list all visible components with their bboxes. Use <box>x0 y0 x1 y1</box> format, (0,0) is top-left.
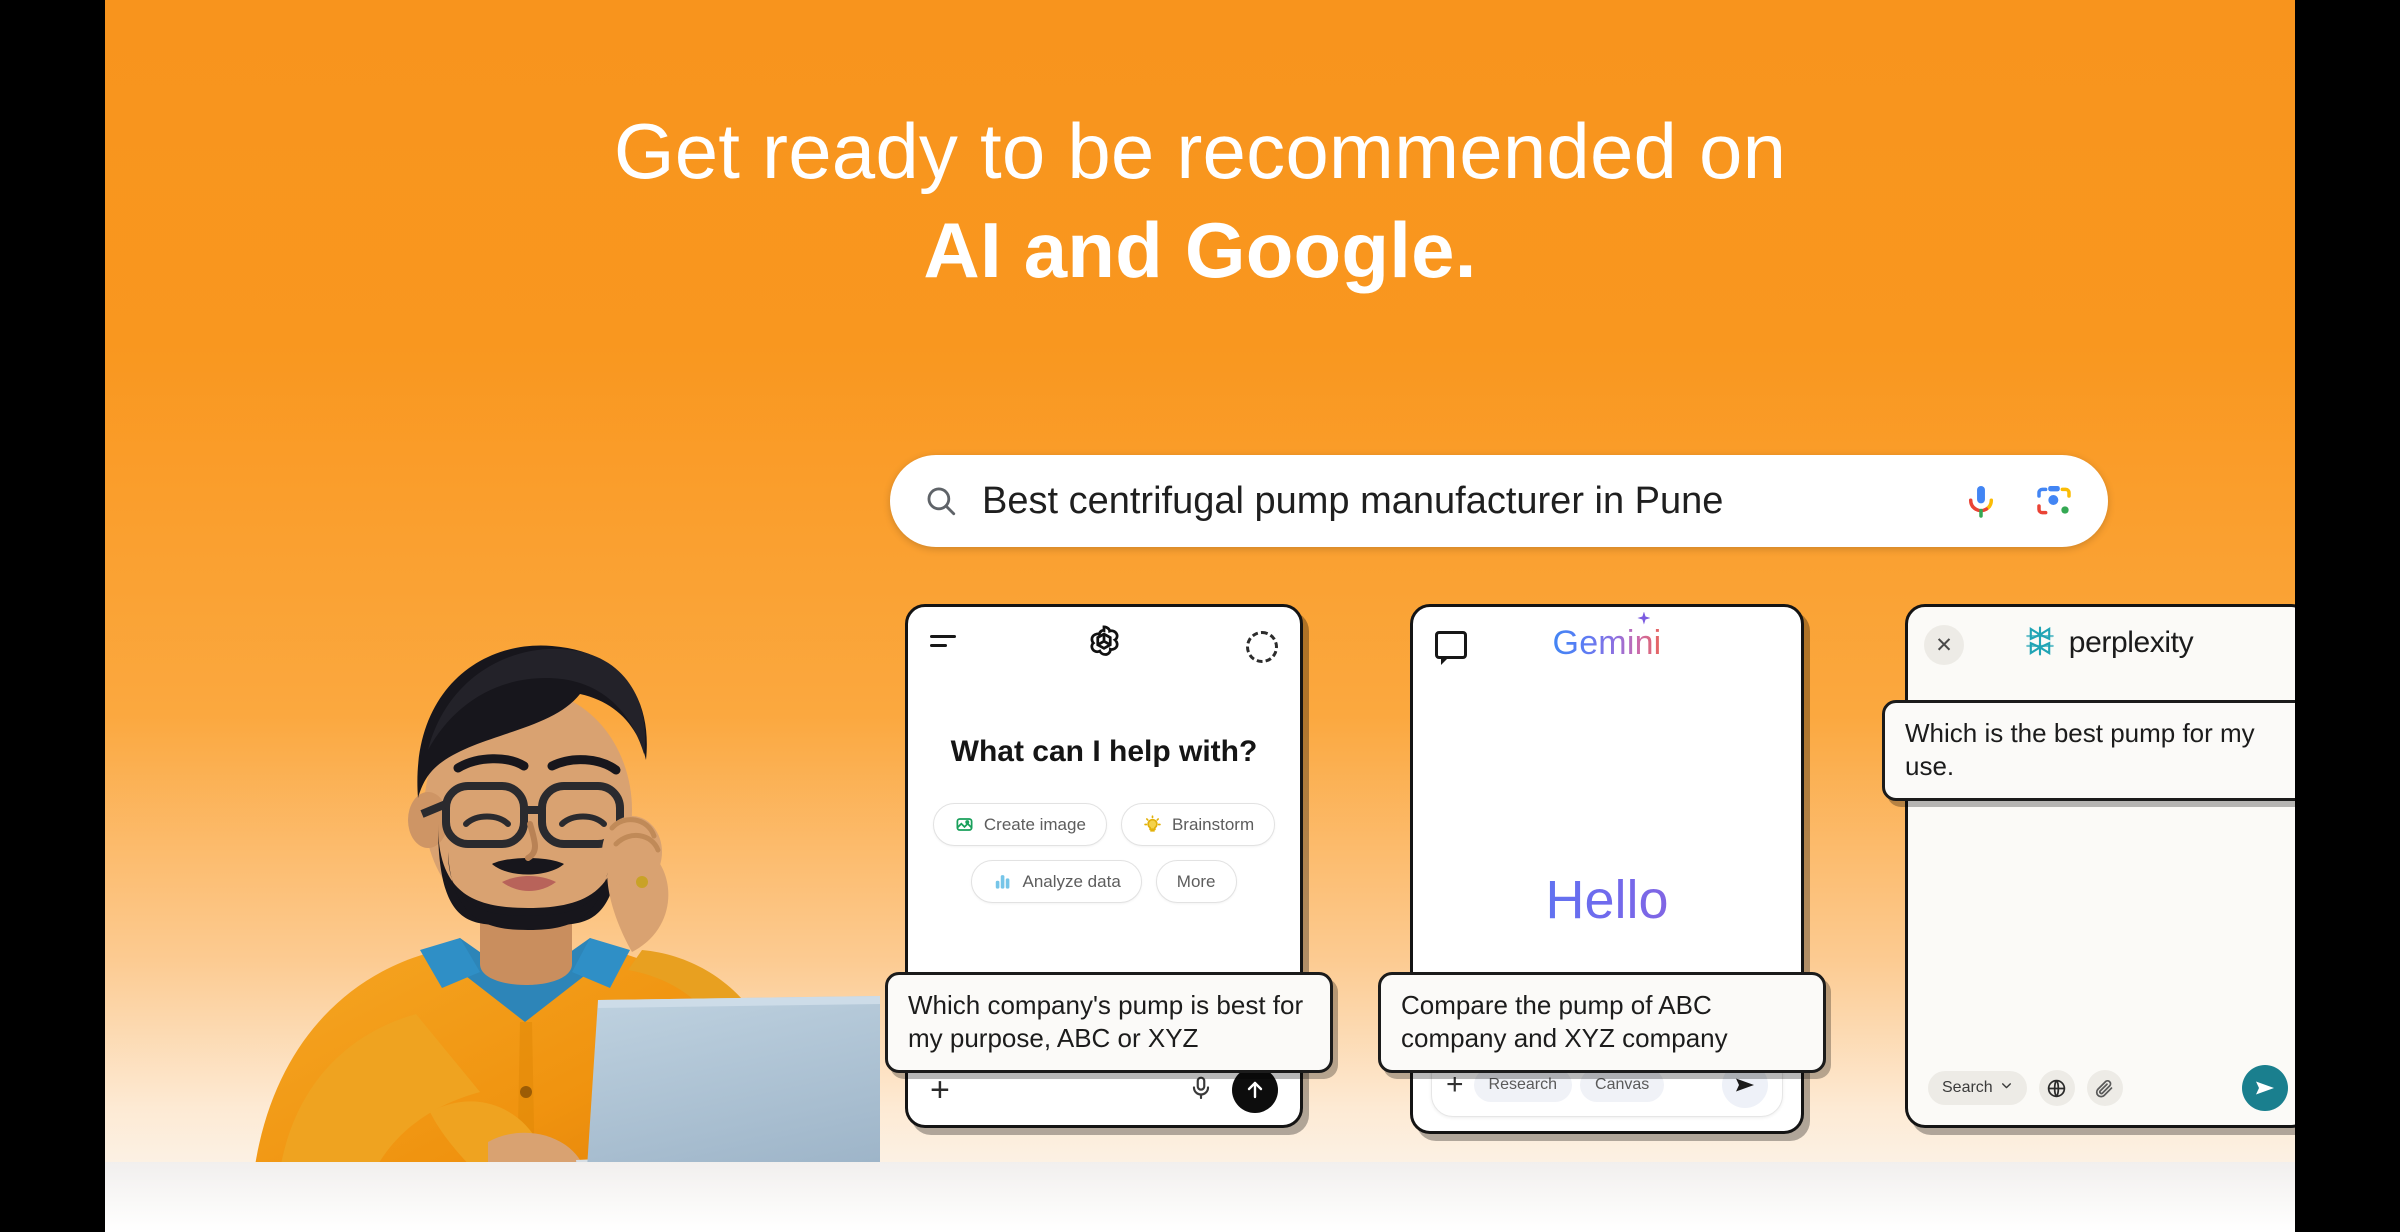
perplexity-prompt-callout: Which is the best pump for my use. <box>1882 700 2295 801</box>
paperclip-icon[interactable] <box>2087 1070 2123 1106</box>
letterbox-right <box>2295 0 2400 1232</box>
chip-create-image[interactable]: Create image <box>933 803 1107 846</box>
chip-label: Create image <box>984 815 1086 835</box>
chip-label: Analyze data <box>1022 872 1120 892</box>
openai-logo-icon <box>908 607 1300 679</box>
chatgpt-suggestion-chips: Create image Brainstorm <box>908 803 1300 903</box>
search-icon <box>924 484 958 518</box>
chip-label: Brainstorm <box>1172 815 1254 835</box>
dashed-circle-new-chat-icon[interactable] <box>1246 631 1278 663</box>
chatgpt-card-header <box>908 607 1300 679</box>
perplexity-card-header: ✕ perplexity <box>1908 607 2295 679</box>
gemini-chip-research[interactable]: Research <box>1474 1068 1572 1102</box>
google-lens-icon[interactable] <box>2034 481 2074 521</box>
headline-line-2: AI and Google. <box>105 207 2295 294</box>
image-icon <box>954 814 975 835</box>
send-button[interactable] <box>1232 1067 1278 1113</box>
slide-content-area: Get ready to be recommended on AI and Go… <box>105 0 2295 1232</box>
search-mode-selector[interactable]: Search <box>1928 1071 2027 1105</box>
gemini-card-header: Gemini <box>1413 607 1801 679</box>
desk-surface <box>105 1162 2295 1232</box>
globe-icon[interactable] <box>2039 1070 2075 1106</box>
send-button[interactable] <box>2242 1065 2288 1111</box>
letterbox-left <box>0 0 105 1232</box>
headline-line-1: Get ready to be recommended on <box>105 108 2295 195</box>
gemini-prompt-callout: Compare the pump of ABC company and XYZ … <box>1378 972 1826 1073</box>
gemini-brand-label: Gemini <box>1553 624 1662 662</box>
chip-label: More <box>1177 872 1216 892</box>
add-attachment-button[interactable]: + <box>1446 1070 1464 1100</box>
page-title: Get ready to be recommended on AI and Go… <box>105 108 2295 295</box>
gemini-greeting: Hello <box>1413 869 1801 931</box>
mic-icon[interactable] <box>1188 1075 1214 1106</box>
perplexity-footer-bar[interactable]: Search <box>1908 1051 2295 1125</box>
google-search-bar[interactable]: Best centrifugal pump manufacturer in Pu… <box>890 455 2108 547</box>
add-attachment-button[interactable]: + <box>930 1073 950 1107</box>
perplexity-logo-icon <box>2023 624 2057 663</box>
chip-analyze-data[interactable]: Analyze data <box>971 860 1141 903</box>
chip-row-2: Analyze data More <box>971 860 1236 903</box>
perplexity-wordmark: perplexity <box>2069 626 2193 660</box>
gemini-wordmark: Gemini <box>1553 624 1662 663</box>
man-at-laptop-illustration <box>180 552 880 1232</box>
perplexity-card[interactable]: ✕ perplexity <box>1905 604 2295 1128</box>
bar-chart-icon <box>992 871 1013 892</box>
gemini-chip-canvas[interactable]: Canvas <box>1580 1068 1664 1102</box>
chevron-down-icon <box>2000 1079 2013 1097</box>
chip-brainstorm[interactable]: Brainstorm <box>1121 803 1275 846</box>
google-mic-icon[interactable] <box>1962 482 2000 520</box>
search-mode-label: Search <box>1942 1079 1993 1097</box>
chatgpt-greeting: What can I help with? <box>908 735 1300 769</box>
chip-row-1: Create image Brainstorm <box>933 803 1275 846</box>
chatgpt-prompt-callout: Which company's pump is best for my purp… <box>885 972 1333 1073</box>
lightbulb-icon <box>1142 814 1163 835</box>
search-input[interactable]: Best centrifugal pump manufacturer in Pu… <box>982 480 1962 523</box>
chip-more[interactable]: More <box>1156 860 1237 903</box>
slide-canvas: Get ready to be recommended on AI and Go… <box>0 0 2400 1232</box>
